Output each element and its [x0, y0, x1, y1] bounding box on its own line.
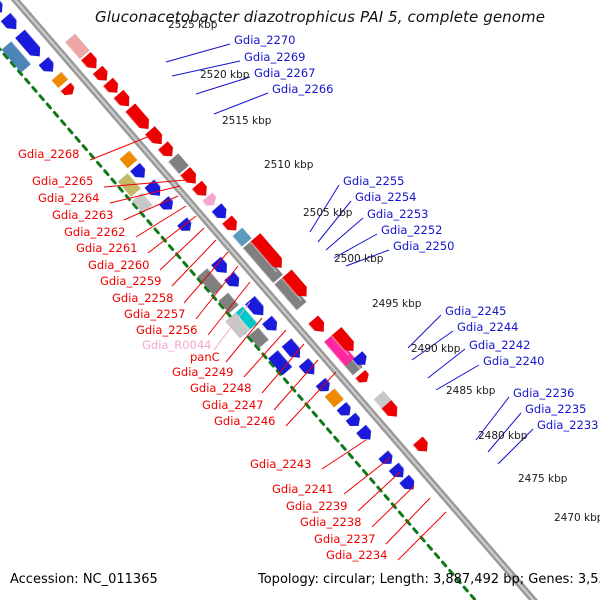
accession-text: Accession: NC_011365	[10, 572, 158, 587]
gene-label-gdia_2264[interactable]: Gdia_2264	[38, 193, 99, 205]
gene-label-gdia_2262[interactable]: Gdia_2262	[64, 227, 125, 239]
gene-label-gdia_2235[interactable]: Gdia_2235	[525, 404, 586, 416]
gene-label-gdia_2244[interactable]: Gdia_2244	[457, 322, 518, 334]
ruler-tick-2510: 2510 kbp	[264, 160, 313, 171]
gene-label-gdia_2246[interactable]: Gdia_2246	[214, 416, 275, 428]
gene-label-gdia_2261[interactable]: Gdia_2261	[76, 243, 137, 255]
gene-label-gdia_2234[interactable]: Gdia_2234	[326, 550, 387, 562]
page-title: Gluconacetobacter diazotrophicus PAI 5, …	[95, 8, 545, 26]
gene-label-gdia_2237[interactable]: Gdia_2237	[314, 534, 375, 546]
ruler-tick-2485: 2485 kbp	[446, 386, 495, 397]
gene-label-gdia_2259[interactable]: Gdia_2259	[100, 276, 161, 288]
gene-label-gdia_2238[interactable]: Gdia_2238	[300, 517, 361, 529]
gene-label-gdia_2241[interactable]: Gdia_2241	[272, 484, 333, 496]
gene-label-gdia_2250[interactable]: Gdia_2250	[393, 241, 454, 253]
gene-label-gdia_2252[interactable]: Gdia_2252	[381, 225, 442, 237]
gene-label-gdia_2236[interactable]: Gdia_2236	[513, 388, 574, 400]
ruler-tick-2480: 2480 kbp	[478, 431, 527, 442]
ruler-tick-2505: 2505 kbp	[303, 208, 352, 219]
gene-label-gdia_2239[interactable]: Gdia_2239	[286, 501, 347, 513]
ruler-tick-2520: 2520 kbp	[200, 70, 249, 81]
gene-label-gdia_2249[interactable]: Gdia_2249	[172, 367, 233, 379]
gene-label-gdia_2260[interactable]: Gdia_2260	[88, 260, 149, 272]
ruler-tick-2475: 2475 kbp	[518, 474, 567, 485]
gene-label-panc[interactable]: panC	[190, 352, 220, 364]
gene-label-gdia_2266[interactable]: Gdia_2266	[272, 84, 333, 96]
gene-label-gdia_2257[interactable]: Gdia_2257	[124, 309, 185, 321]
ruler-tick-2500: 2500 kbp	[334, 254, 383, 265]
gene-label-gdia_2242[interactable]: Gdia_2242	[469, 340, 530, 352]
ruler-tick-2495: 2495 kbp	[372, 299, 421, 310]
ruler-tick-2470: 2470 kbp	[554, 513, 600, 524]
gene-label-gdia_2265[interactable]: Gdia_2265	[32, 176, 93, 188]
gene-label-gdia_2240[interactable]: Gdia_2240	[483, 356, 544, 368]
gene-label-gdia_2256[interactable]: Gdia_2256	[136, 325, 197, 337]
gene-label-gdia_2258[interactable]: Gdia_2258	[112, 293, 173, 305]
gene-label-gdia_2263[interactable]: Gdia_2263	[52, 210, 113, 222]
gene-label-gdia_2243[interactable]: Gdia_2243	[250, 459, 311, 471]
gene-label-gdia_2254[interactable]: Gdia_2254	[355, 192, 416, 204]
ruler-tick-2515: 2515 kbp	[222, 116, 271, 127]
gene-label-gdia_2270[interactable]: Gdia_2270	[234, 35, 295, 47]
gene-label-gdia_2269[interactable]: Gdia_2269	[244, 52, 305, 64]
gene-label-gdia_2267[interactable]: Gdia_2267	[254, 68, 315, 80]
gene-label-gdia_2253[interactable]: Gdia_2253	[367, 209, 428, 221]
gene-label-gdia_2245[interactable]: Gdia_2245	[445, 306, 506, 318]
gene-label-gdia_2233[interactable]: Gdia_2233	[537, 420, 598, 432]
gene-label-gdia_2248[interactable]: Gdia_2248	[190, 383, 251, 395]
genome-summary-text: Topology: circular; Length: 3,887,492 bp…	[258, 572, 600, 587]
gene-label-gdia_2247[interactable]: Gdia_2247	[202, 400, 263, 412]
gene-label-gdia_2268[interactable]: Gdia_2268	[18, 149, 79, 161]
gene-label-gdia_2255[interactable]: Gdia_2255	[343, 176, 404, 188]
genome-map-canvas: Gluconacetobacter diazotrophicus PAI 5, …	[0, 0, 600, 600]
ruler-tick-2490: 2490 kbp	[411, 344, 460, 355]
ruler-tick-2525: 2525 kbp	[168, 20, 217, 31]
